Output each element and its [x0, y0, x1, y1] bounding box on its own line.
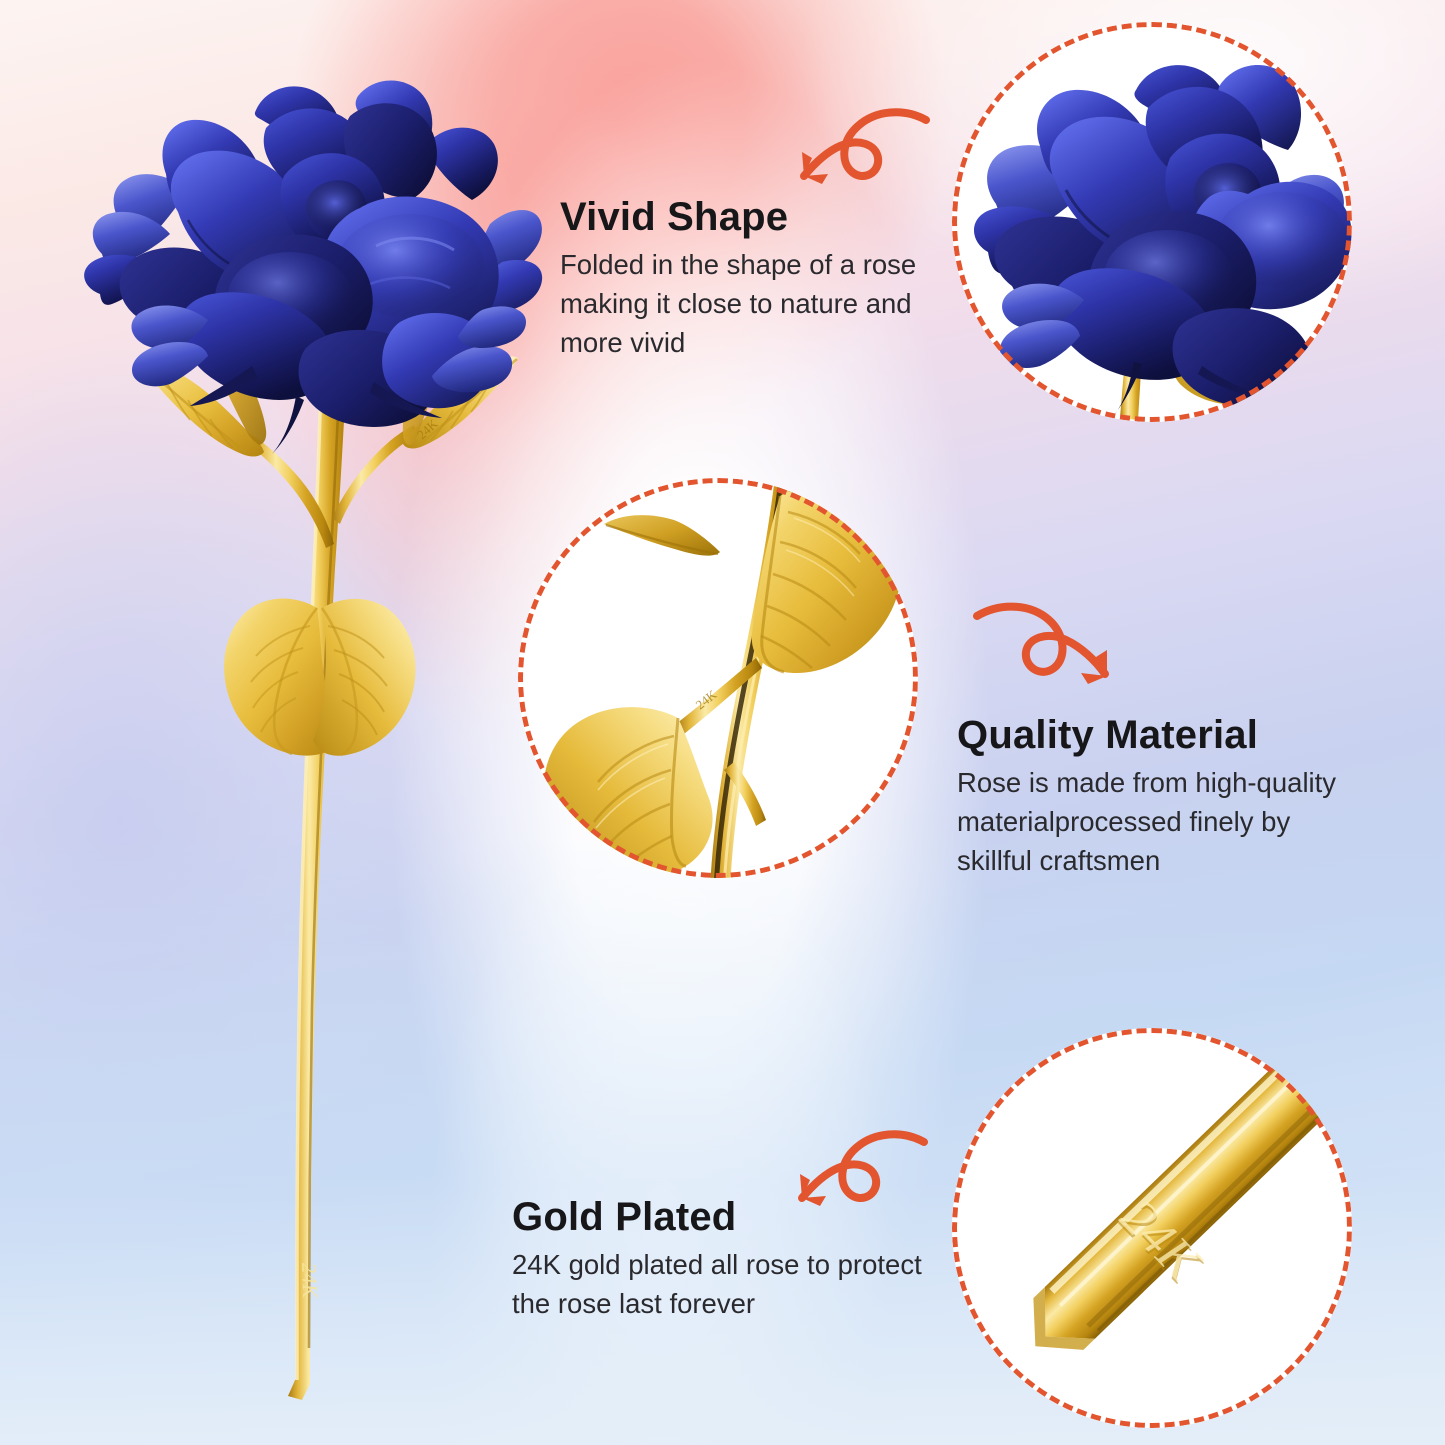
- callout-stem-closeup: 24K 24K: [952, 1028, 1352, 1428]
- callout-rose-artwork: [952, 22, 1352, 422]
- gold-leaf-small: [604, 515, 720, 556]
- arrow-icon-quality-material: [975, 596, 1125, 696]
- feature-body: Folded in the shape of a rose making it …: [560, 245, 960, 362]
- svg-text:24K: 24K: [297, 1262, 322, 1299]
- infographic-canvas: 24K: [0, 0, 1445, 1445]
- stem-engraving-24k: 24K: [297, 1262, 322, 1299]
- arrow-icon-vivid-shape: [788, 104, 928, 196]
- callout-leaf-artwork: 24K: [518, 478, 918, 878]
- feature-body: Rose is made from high-quality materialp…: [957, 763, 1367, 880]
- rose-stem: 24K: [288, 283, 350, 1400]
- hero-rose-image: 24K: [70, 48, 560, 1445]
- arrow-icon-gold-plated: [786, 1124, 926, 1220]
- feature-title: Quality Material: [957, 714, 1367, 757]
- callout-rose-closeup: [952, 22, 1352, 422]
- callout-stem-artwork: 24K 24K: [952, 1028, 1352, 1428]
- feature-block-vivid-shape: Vivid Shape Folded in the shape of a ros…: [560, 196, 960, 362]
- callout-leaf-closeup: 24K: [518, 478, 918, 878]
- feature-block-quality-material: Quality Material Rose is made from high-…: [957, 714, 1367, 880]
- feature-title: Vivid Shape: [560, 196, 960, 239]
- feature-body: 24K gold plated all rose to protect the …: [512, 1245, 962, 1323]
